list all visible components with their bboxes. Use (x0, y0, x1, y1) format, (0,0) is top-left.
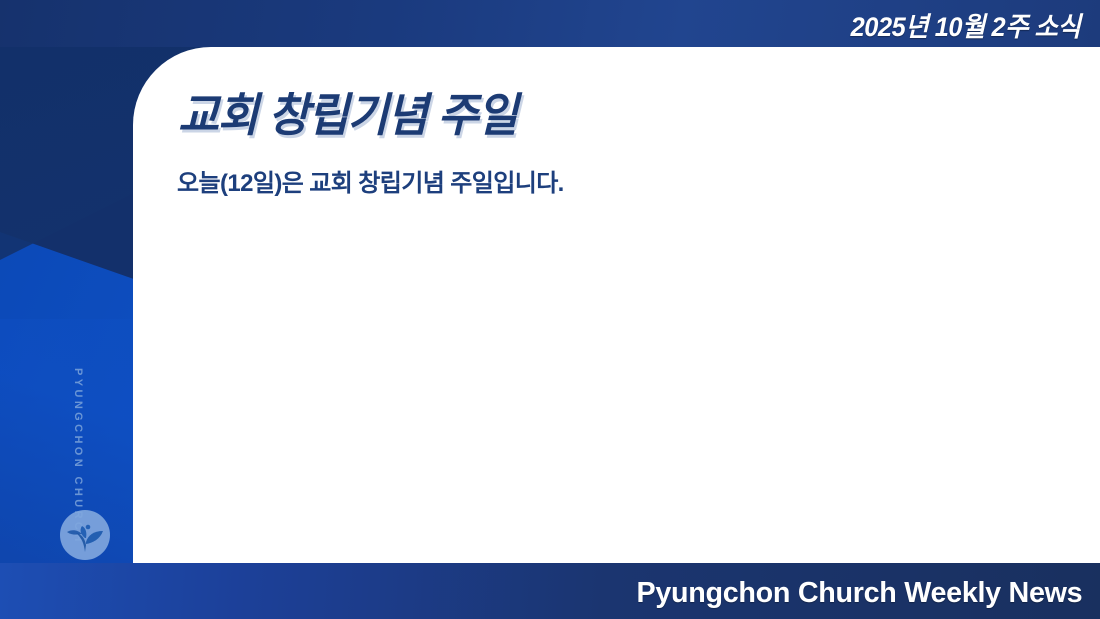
page-title: 교회 창립기념 주일 (178, 79, 517, 145)
content-panel: 교회 창립기념 주일 오늘(12일)은 교회 창립기념 주일입니다. (133, 47, 1100, 563)
announcement-text: 오늘(12일)은 교회 창립기념 주일입니다. (177, 163, 564, 198)
footer-title: Pyungchon Church Weekly News (636, 577, 1082, 610)
header-date-label: 2025년 10월 2주 소식 (850, 5, 1080, 44)
weekly-news-slide: 2025년 10월 2주 소식 교회 창립기념 주일 오늘(12일)은 교회 창… (0, 0, 1100, 619)
header-bar: 2025년 10월 2주 소식 (0, 0, 1100, 47)
footer-bar: Pyungchon Church Weekly News (0, 563, 1100, 619)
church-flower-emblem-icon (58, 508, 112, 562)
